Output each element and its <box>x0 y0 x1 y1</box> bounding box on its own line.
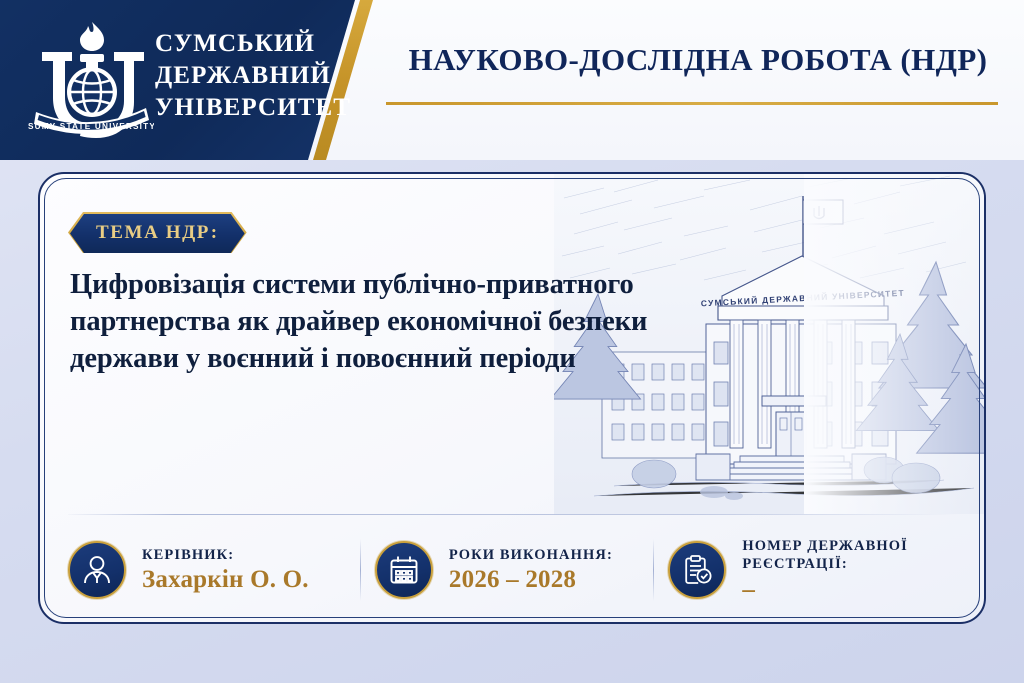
brand-line-2: ДЕРЖАВНИЙ <box>155 60 365 92</box>
years-label: РОКИ ВИКОНАННЯ: <box>449 546 613 565</box>
sumdu-logo: SUMY STATE UNIVERSITY <box>28 16 154 142</box>
calendar-icon <box>375 541 433 599</box>
page-title: НАУКОВО-ДОСЛІДНА РОБОТА (НДР) <box>398 42 998 78</box>
nsr-topic-card: СУМСЬКИЙ ДЕРЖАВНИЙ УНІВЕРСИТЕТ <box>38 172 986 624</box>
registration-value: – <box>742 576 968 604</box>
info-row-divider <box>68 514 958 515</box>
info-block-years: РОКИ ВИКОНАННЯ: 2026 – 2028 <box>375 541 653 599</box>
info-divider-2 <box>653 539 654 601</box>
registration-label: НОМЕР ДЕРЖАВНОЇ РЕЄСТРАЦІЇ: <box>742 537 968 574</box>
brand-name: СУМСЬКИЙ ДЕРЖАВНИЙ УНІВЕРСИТЕТ <box>155 28 365 124</box>
topic-title: Цифровізація системи публічно-приватного… <box>70 266 670 377</box>
info-block-supervisor: КЕРІВНИК: Захаркін О. О. <box>68 541 360 599</box>
years-text: РОКИ ВИКОНАННЯ: 2026 – 2028 <box>449 546 613 595</box>
page-header: SUMY STATE UNIVERSITY СУМСЬКИЙ ДЕРЖАВНИЙ… <box>0 0 1024 160</box>
header-gold-rule <box>386 102 998 105</box>
info-divider-1 <box>360 539 361 601</box>
years-value: 2026 – 2028 <box>449 566 613 594</box>
supervisor-value: Захаркін О. О. <box>142 566 309 594</box>
info-row: КЕРІВНИК: Захаркін О. О. <box>68 526 968 614</box>
topic-badge: ТЕМА НДР: <box>70 214 245 253</box>
clipboard-check-icon <box>668 541 726 599</box>
supervisor-person-icon <box>68 541 126 599</box>
sumdu-torch-globe-u-logo-icon: SUMY STATE UNIVERSITY <box>28 16 154 142</box>
supervisor-label: КЕРІВНИК: <box>142 546 309 565</box>
info-block-registration: НОМЕР ДЕРЖАВНОЇ РЕЄСТРАЦІЇ: – <box>668 537 968 604</box>
supervisor-text: КЕРІВНИК: Захаркін О. О. <box>142 546 309 595</box>
brand-line-1: СУМСЬКИЙ <box>155 28 365 60</box>
brand-line-3: УНІВЕРСИТЕТ <box>155 92 365 124</box>
logo-ribbon-text: SUMY STATE UNIVERSITY <box>28 122 154 131</box>
registration-text: НОМЕР ДЕРЖАВНОЇ РЕЄСТРАЦІЇ: – <box>742 537 968 604</box>
